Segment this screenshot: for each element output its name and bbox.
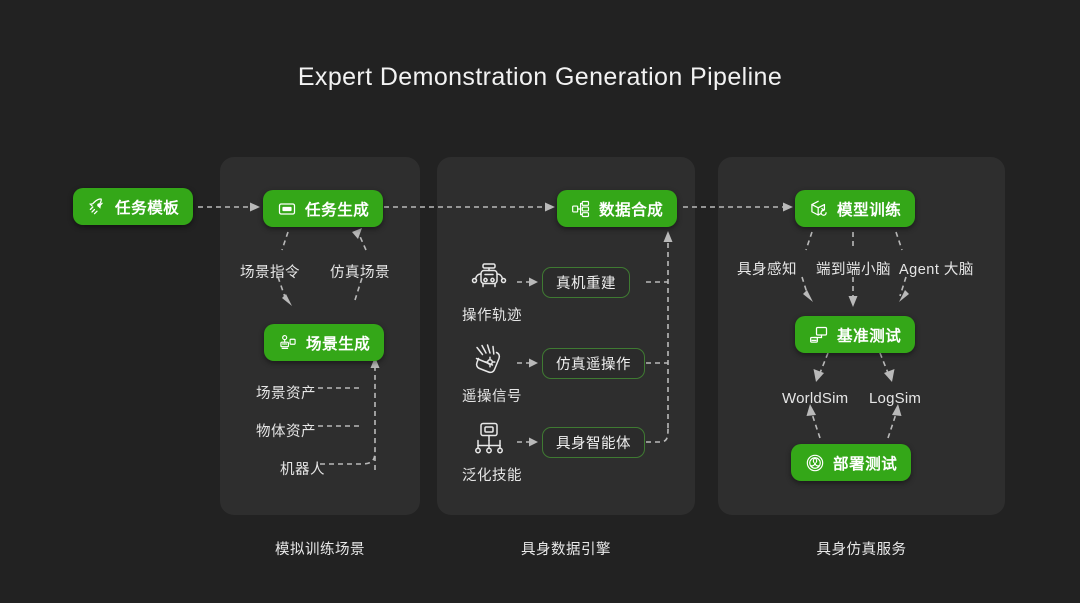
circular-badge-icon xyxy=(805,453,825,473)
panel-caption-simulation-training-scene: 模拟训练场景 xyxy=(220,538,420,559)
rocket-icon xyxy=(87,197,107,217)
edge-label-agent-brain: Agent 大脑 xyxy=(899,258,974,279)
data-glove-icon xyxy=(469,343,509,381)
data-merge-icon xyxy=(571,199,591,219)
panel-caption-embodied-simulation-service: 具身仿真服务 xyxy=(718,538,1005,559)
node-model-training[interactable]: 模型训练 xyxy=(795,190,915,227)
edge-label-simulated-scene: 仿真场景 xyxy=(330,261,390,282)
template-frame-icon xyxy=(277,199,297,219)
node-label: 数据合成 xyxy=(599,198,663,220)
cube-refresh-icon xyxy=(809,199,829,219)
page-title: Expert Demonstration Generation Pipeline xyxy=(0,63,1080,92)
panel-caption-embodied-data-engine: 具身数据引擎 xyxy=(437,538,695,559)
edge-label-scene-instruction: 场景指令 xyxy=(240,261,300,282)
monitor-network-icon xyxy=(809,325,829,345)
edge-label-robot: 机器人 xyxy=(280,458,325,479)
node-label: 任务模板 xyxy=(115,196,179,218)
edge-label-embodied-perception: 具身感知 xyxy=(737,258,797,279)
node-label: 场景生成 xyxy=(306,332,370,354)
node-task-generation[interactable]: 任务生成 xyxy=(263,190,383,227)
node-embodied-agent[interactable]: 具身智能体 xyxy=(542,427,645,458)
diagram-canvas: Expert Demonstration Generation Pipeline xyxy=(0,0,1080,603)
node-label: 模型训练 xyxy=(837,198,901,220)
robot-arm-icon xyxy=(469,261,509,299)
edge-label-object-assets: 物体资产 xyxy=(256,420,316,441)
edge-label-teleop-signal: 遥操信号 xyxy=(462,385,522,406)
edge-label-generalization-skill: 泛化技能 xyxy=(462,464,522,485)
node-label: 真机重建 xyxy=(556,272,616,293)
skill-network-icon xyxy=(469,421,509,459)
node-label: 具身智能体 xyxy=(556,432,631,453)
edge-label-end-to-end-cerebellum: 端到端小脑 xyxy=(816,258,891,279)
node-deploy-test[interactable]: 部署测试 xyxy=(791,444,911,481)
node-label: 任务生成 xyxy=(305,198,369,220)
edge-label-logsim: LogSim xyxy=(869,390,921,407)
node-scene-generation[interactable]: 场景生成 xyxy=(264,324,384,361)
node-sim-teleoperation[interactable]: 仿真遥操作 xyxy=(542,348,645,379)
edge-label-operation-trajectory: 操作轨迹 xyxy=(462,304,522,325)
node-benchmark-test[interactable]: 基准测试 xyxy=(795,316,915,353)
edge-label-worldsim: WorldSim xyxy=(782,390,848,407)
node-label: 部署测试 xyxy=(833,452,897,474)
node-label: 基准测试 xyxy=(837,324,901,346)
node-label: 仿真遥操作 xyxy=(556,353,631,374)
node-task-template[interactable]: 任务模板 xyxy=(73,188,193,225)
edge-label-scene-assets: 场景资产 xyxy=(256,382,316,403)
scene-robot-icon xyxy=(278,333,298,353)
node-data-synthesis[interactable]: 数据合成 xyxy=(557,190,677,227)
node-real-machine-rebuild[interactable]: 真机重建 xyxy=(542,267,630,298)
